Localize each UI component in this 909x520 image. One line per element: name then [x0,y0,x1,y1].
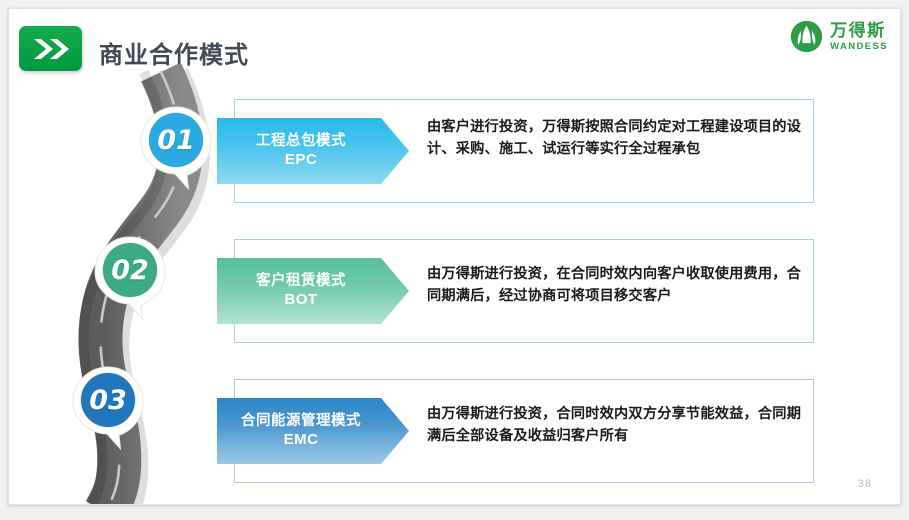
roadmap-pin-label: 03 [71,365,145,435]
double-chevron-right-icon [31,37,71,61]
slide-canvas: 商业合作模式 万得斯 WANDESS [8,8,901,505]
brand-logo: 万得斯 WANDESS [790,20,888,53]
roadmap-pin-03[interactable]: 03 [71,365,145,451]
mode-label-en-bot: BOT [284,291,317,308]
mode-arrow-label-emc[interactable]: 合同能源管理模式 EMC [217,398,409,464]
mode-description-bot: 由万得斯进行投资，在合同时效内向客户收取使用费用，合同期满后，经过协商可将项目移… [427,264,812,307]
page-number: 38 [858,478,872,490]
roadmap-pin-01[interactable]: 01 [139,105,213,191]
mode-label-cn-bot: 客户租赁模式 [256,273,346,289]
header-chevron-badge [19,26,82,71]
mode-label-en-epc: EPC [285,151,317,168]
mode-description-epc: 由客户进行投资，万得斯按照合同约定对工程建设项目的设计、采购、施工、试运行等实行… [427,117,812,160]
slide-container: 商业合作模式 万得斯 WANDESS [0,0,909,520]
brand-name-en: WANDESS [830,42,888,52]
roadmap-pin-02[interactable]: 02 [93,235,167,321]
mode-label-cn-epc: 工程总包模式 [256,133,346,149]
mode-label-en-emc: EMC [284,431,319,448]
brand-text: 万得斯 WANDESS [830,22,888,52]
mode-arrow-label-bot[interactable]: 客户租赁模式 BOT [217,258,409,324]
mode-label-cn-emc: 合同能源管理模式 [241,413,361,429]
roadmap-pin-label: 01 [139,105,213,175]
brand-name-cn: 万得斯 [830,22,888,39]
page-title: 商业合作模式 [99,35,249,70]
mode-arrow-label-epc[interactable]: 工程总包模式 EPC [217,118,409,184]
roadmap-pin-label: 02 [93,235,167,305]
plant-leaf-icon [790,20,823,53]
mode-description-emc: 由万得斯进行投资，合同时效内双方分享节能效益，合同期满后全部设备及收益归客户所有 [427,404,812,447]
